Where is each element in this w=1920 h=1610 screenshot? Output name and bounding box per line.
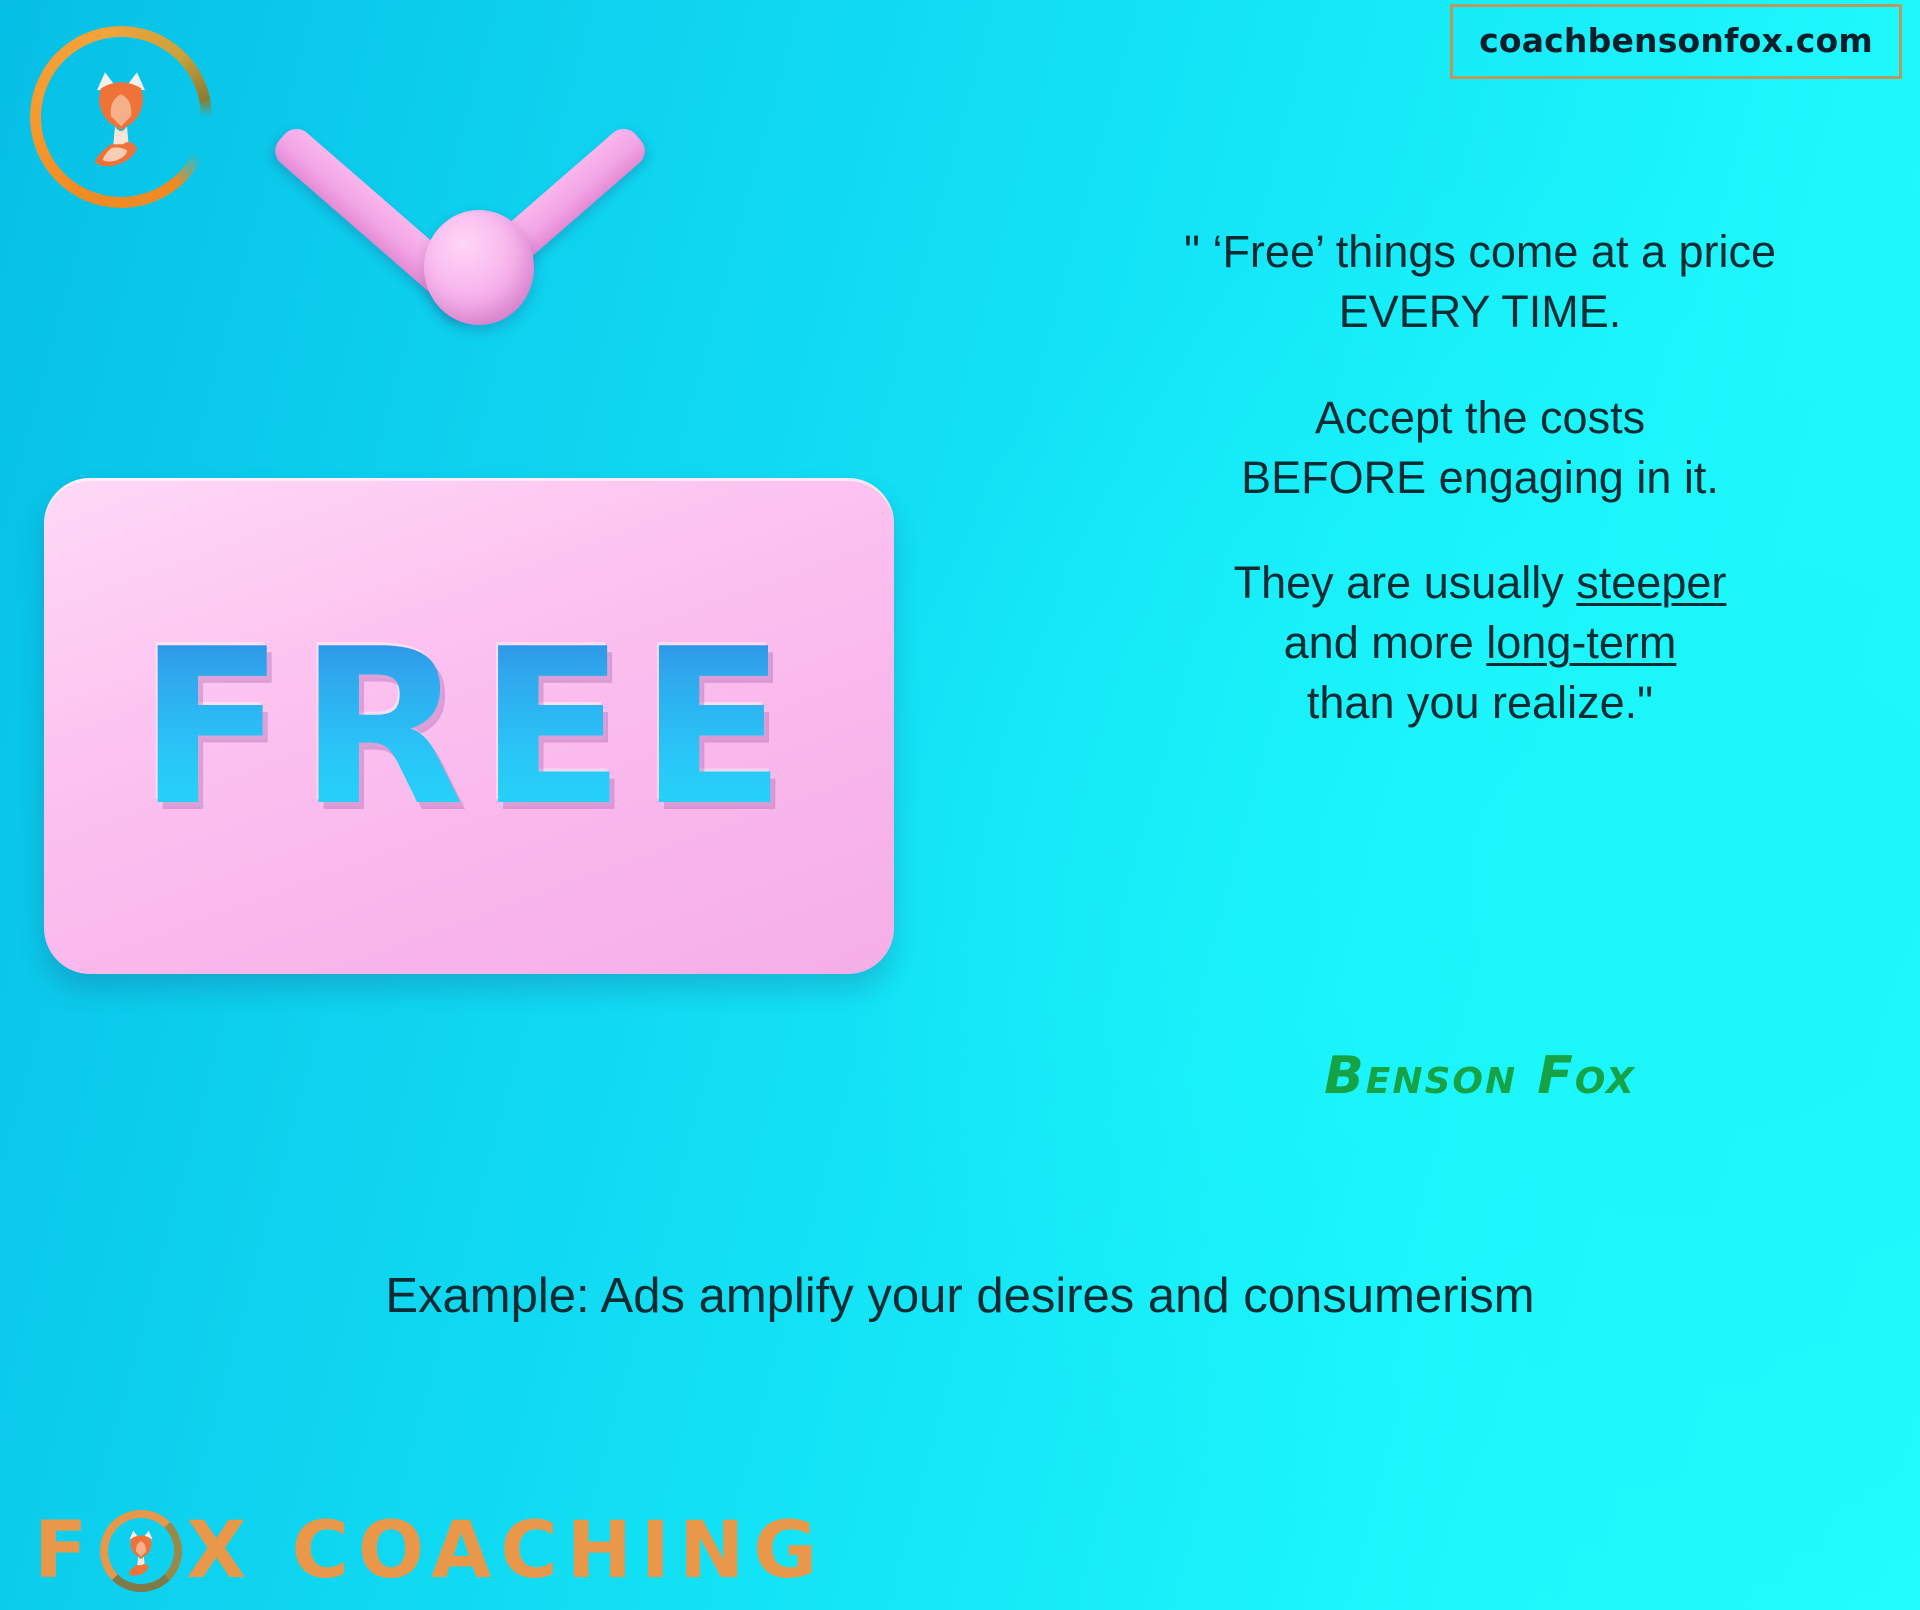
quote-line-7: than you realize." (1307, 677, 1653, 728)
quote-line-6-prefix: and more (1284, 617, 1487, 668)
quote-paragraph-3: They are usually steeper and more long-t… (1100, 553, 1860, 733)
hanging-free-sign: FREE (44, 200, 904, 980)
quote-line-1: " ‘Free’ things come at a price (1184, 226, 1776, 277)
quote-line-4: BEFORE engaging in it. (1241, 452, 1719, 503)
brand-logo (30, 26, 212, 208)
quote-block: " ‘Free’ things come at a price EVERY TI… (1100, 222, 1860, 741)
fox-logo-icon (119, 1526, 163, 1580)
site-url-text: coachbensonfox.com (1479, 21, 1873, 60)
footer-wordmark-f: F (34, 1506, 96, 1596)
quote-emphasis-long-term: long-term (1486, 617, 1676, 668)
footer-wordmark: F X COACHING (34, 1506, 826, 1596)
quote-paragraph-2: Accept the costs BEFORE engaging in it. (1100, 388, 1860, 508)
fox-logo-icon (75, 64, 167, 174)
sign-hanger-knob (424, 210, 534, 325)
footer-wordmark-rest: X COACHING (186, 1506, 826, 1596)
quote-paragraph-1: " ‘Free’ things come at a price EVERY TI… (1100, 222, 1860, 342)
site-url-box[interactable]: coachbensonfox.com (1450, 4, 1902, 79)
author-signature: Benson Fox (1100, 1046, 1860, 1106)
sign-board: FREE (44, 478, 894, 974)
sign-word-free: FREE (44, 620, 894, 835)
poster-canvas: coachbensonfox.com FREE " ‘Free’ things … (0, 0, 1920, 1610)
quote-line-3: Accept the costs (1315, 392, 1645, 443)
quote-line-5-prefix: They are usually (1234, 557, 1577, 608)
example-caption: Example: Ads amplify your desires and co… (0, 1268, 1920, 1324)
quote-emphasis-steeper: steeper (1576, 557, 1726, 608)
quote-line-2: EVERY TIME. (1339, 286, 1622, 337)
footer-fox-badge (100, 1510, 182, 1592)
